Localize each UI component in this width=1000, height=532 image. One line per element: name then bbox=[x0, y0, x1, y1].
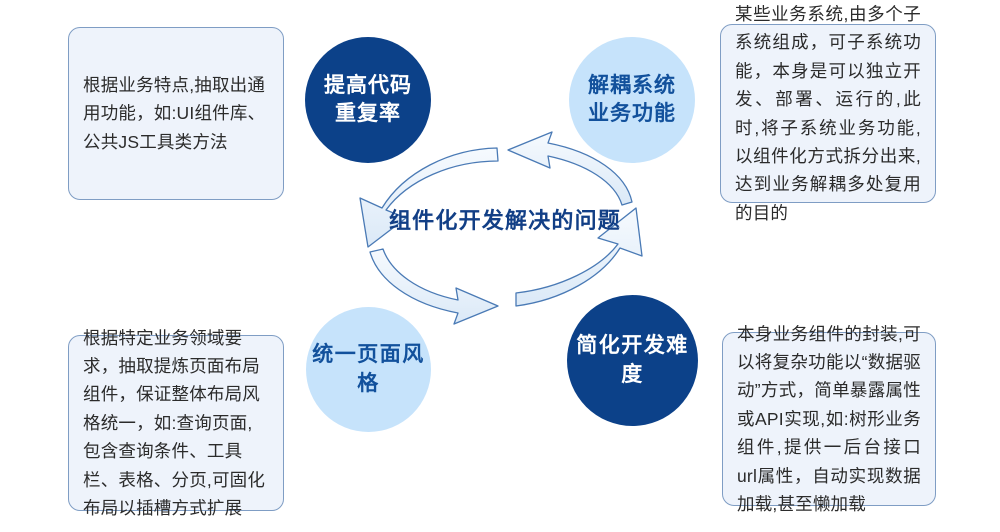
center-title: 组件化开发解决的问题 bbox=[330, 210, 680, 232]
node-label-bottom-right: 简化开发难度 bbox=[567, 332, 698, 389]
node-circle-bottom-right[interactable]: 简化开发难度 bbox=[567, 295, 698, 426]
note-box-bottom-left: 根据特定业务领域要求，抽取提炼页面布局组件，保证整体布局风格统一，如:查询页面,… bbox=[68, 335, 284, 511]
node-circle-bottom-left[interactable]: 统一页面风格 bbox=[306, 307, 431, 432]
note-box-top-right: 某些业务系统,由多个子系统组成，可子系统功能，本身是可以独立开发、部署、运行的,… bbox=[720, 24, 936, 203]
node-circle-top-right[interactable]: 解耦系统 业务功能 bbox=[569, 37, 695, 163]
note-box-top-left: 根据业务特点,抽取出通用功能，如:UI组件库、公共JS工具类方法 bbox=[68, 27, 284, 200]
note-text-top-left: 根据业务特点,抽取出通用功能，如:UI组件库、公共JS工具类方法 bbox=[69, 71, 283, 156]
node-label-bottom-left: 统一页面风格 bbox=[306, 341, 431, 398]
note-box-bottom-right: 本身业务组件的封装,可以将复杂功能以“数据驱动”方式，简单暴露属性或API实现,… bbox=[722, 332, 936, 506]
diagram-canvas: 组件化开发解决的问题 提高代码 重复率 解耦系统 业务功能 统一页面风格 简化开… bbox=[0, 0, 1000, 532]
node-circle-top-left[interactable]: 提高代码 重复率 bbox=[305, 37, 431, 163]
node-label-top-right: 解耦系统 业务功能 bbox=[588, 72, 676, 129]
note-text-top-right: 某些业务系统,由多个子系统组成，可子系统功能，本身是可以独立开发、部署、运行的,… bbox=[721, 0, 935, 227]
node-label-top-left: 提高代码 重复率 bbox=[324, 72, 412, 129]
note-text-bottom-right: 本身业务组件的封装,可以将复杂功能以“数据驱动”方式，简单暴露属性或API实现,… bbox=[723, 320, 935, 518]
note-text-bottom-left: 根据特定业务领域要求，抽取提炼页面布局组件，保证整体布局风格统一，如:查询页面,… bbox=[69, 324, 283, 522]
